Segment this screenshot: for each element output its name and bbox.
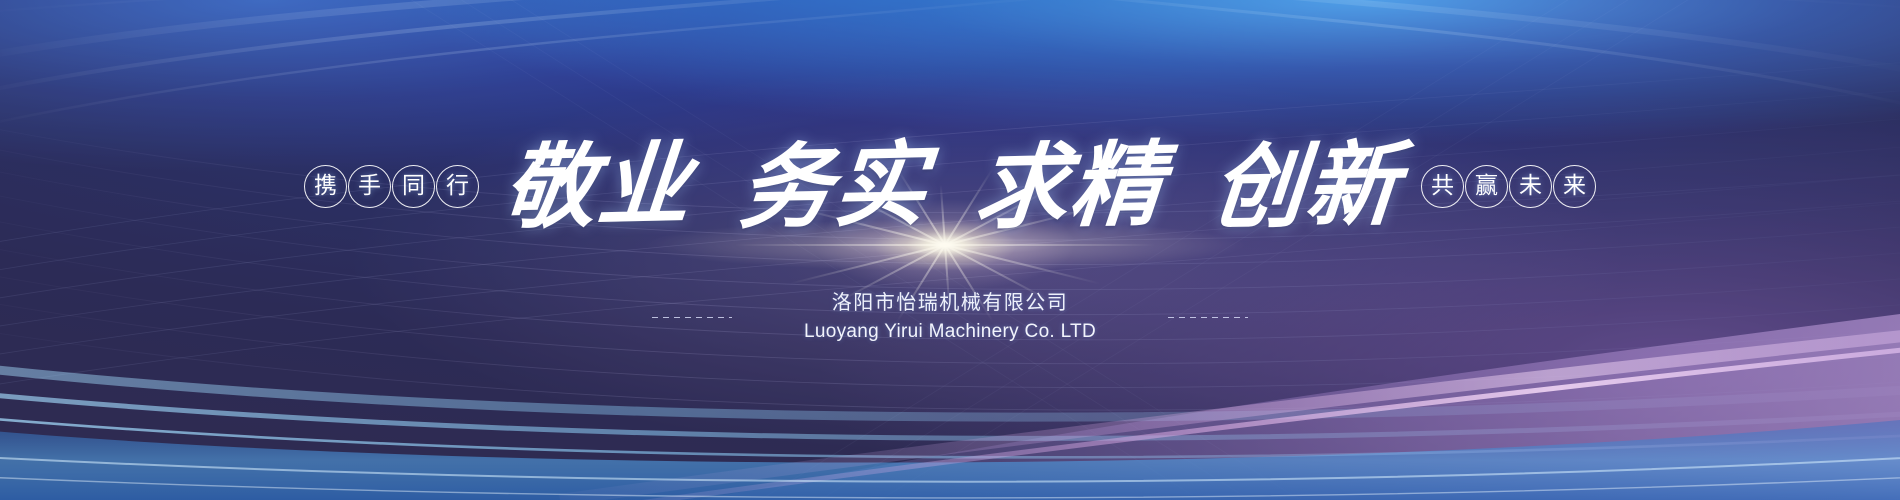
divider-dash-left	[652, 317, 732, 318]
circled-char-tong: 同	[392, 165, 435, 208]
main-slogan: 敬业 务实 求精 创新	[497, 142, 1407, 230]
company-names: 洛阳市怡瑞机械有限公司 Luoyang Yirui Machinery Co. …	[804, 288, 1096, 347]
company-name-block: 洛阳市怡瑞机械有限公司 Luoyang Yirui Machinery Co. …	[0, 288, 1900, 347]
banner-content: 携 手 同 行 敬业 务实 求精 创新 共 赢 未 来	[0, 0, 1900, 500]
slogan-word-qiujing: 求精	[965, 140, 1175, 233]
circled-char-ying: 赢	[1465, 165, 1508, 208]
circled-char-xing: 行	[436, 165, 479, 208]
company-culture-banner: 携 手 同 行 敬业 务实 求精 创新 共 赢 未 来	[0, 0, 1900, 500]
circled-char-shou: 手	[348, 165, 391, 208]
right-circled-characters: 共 赢 未 来	[1421, 165, 1596, 208]
circled-char-gong: 共	[1421, 165, 1464, 208]
circled-char-wei: 未	[1509, 165, 1552, 208]
company-name-en: Luoyang Yirui Machinery Co. LTD	[804, 318, 1096, 347]
slogan-word-chuangxin: 创新	[1201, 140, 1411, 233]
slogan-row: 携 手 同 行 敬业 务实 求精 创新 共 赢 未 来	[0, 142, 1900, 230]
circled-char-lai: 来	[1553, 165, 1596, 208]
company-name-cn: 洛阳市怡瑞机械有限公司	[804, 288, 1096, 317]
divider-dash-right	[1168, 317, 1248, 318]
circled-char-xie: 携	[304, 165, 347, 208]
slogan-word-jingye: 敬业	[493, 140, 703, 233]
slogan-word-wushi: 务实	[729, 140, 939, 233]
left-circled-characters: 携 手 同 行	[304, 165, 479, 208]
